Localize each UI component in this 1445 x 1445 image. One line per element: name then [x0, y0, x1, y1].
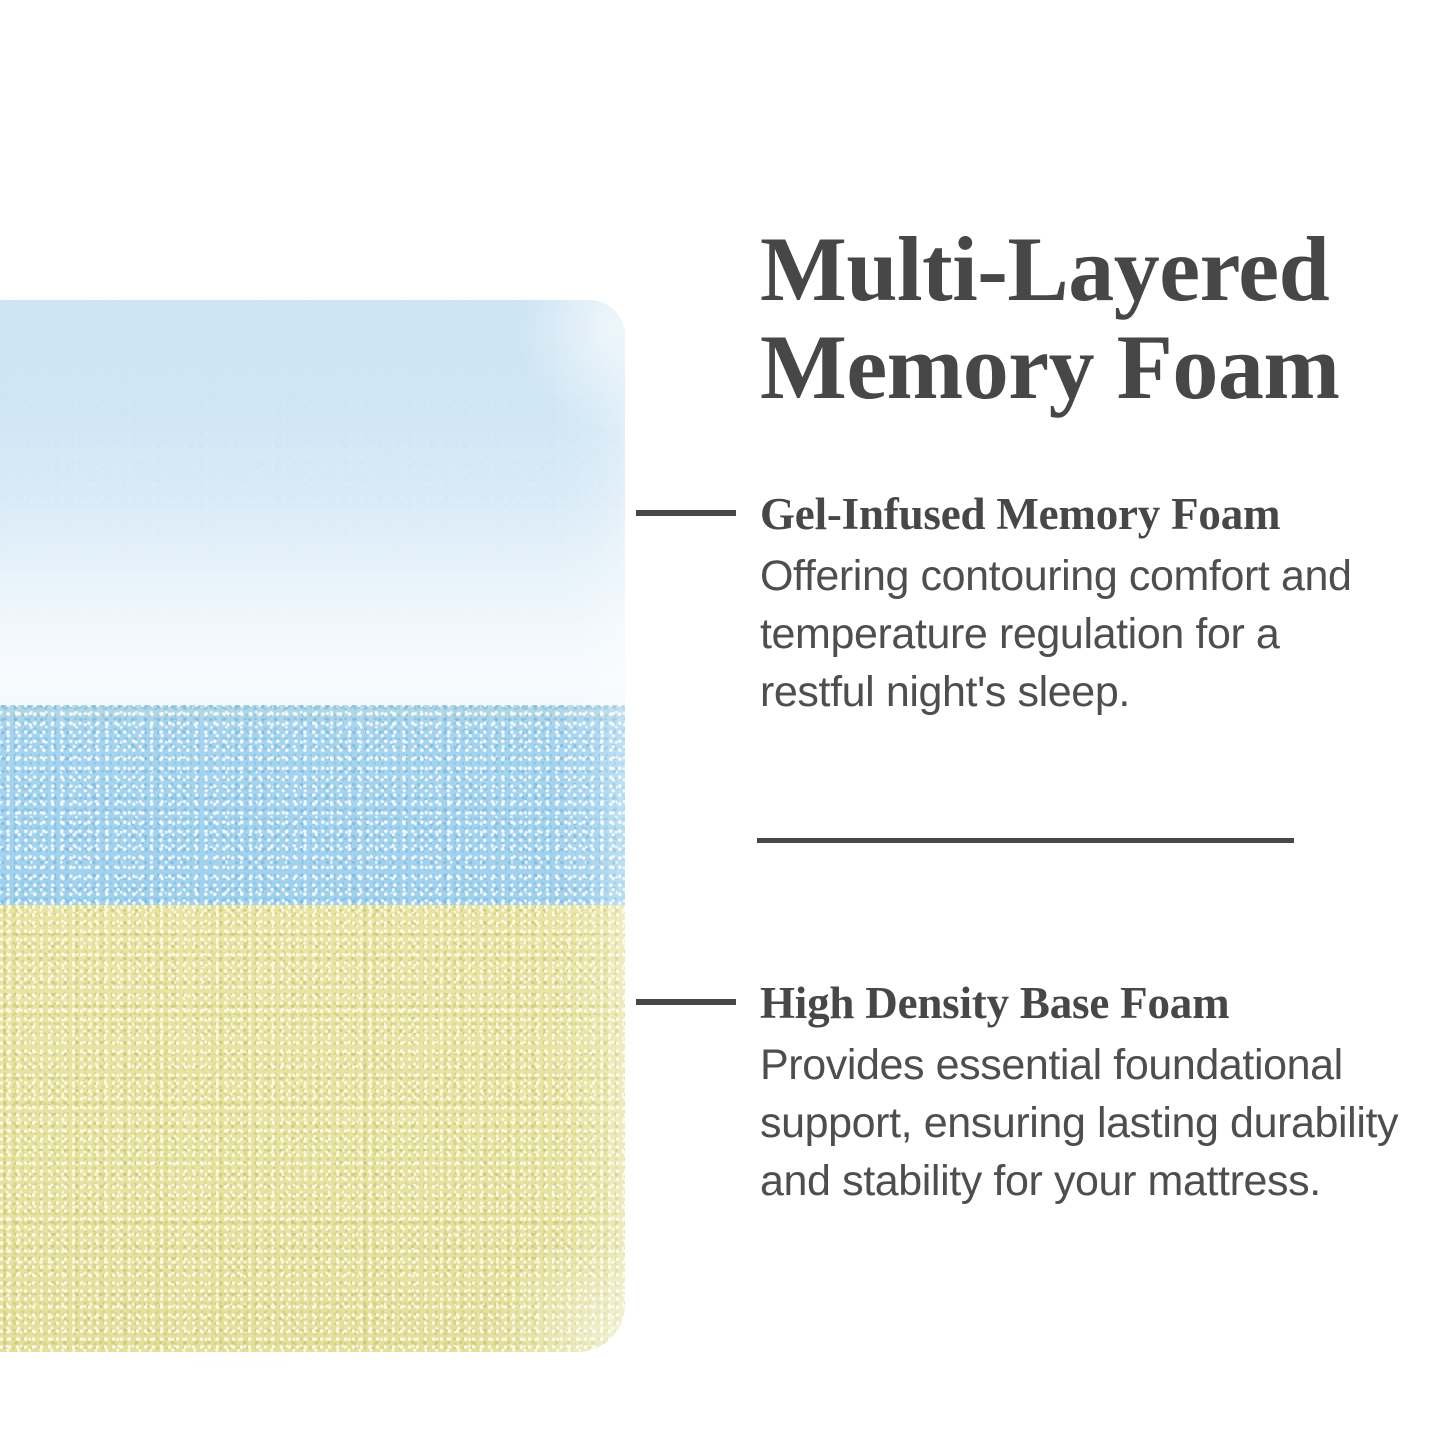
feature-description: Offering contouring comfort and temperat… — [757, 547, 1417, 721]
foam-block-illustration — [0, 300, 625, 1352]
foam-texture-speckle-surface — [0, 300, 625, 705]
content-column: Multi-Layered Memory Foam Gel-Infused Me… — [757, 0, 1417, 1445]
feature-block-high-density-base-foam: High Density Base Foam Provides essentia… — [757, 978, 1417, 1210]
feature-heading: Gel-Infused Memory Foam — [760, 489, 1280, 539]
infographic-canvas: Multi-Layered Memory Foam Gel-Infused Me… — [0, 0, 1445, 1445]
feature-leader-row: Gel-Infused Memory Foam — [757, 489, 1417, 541]
feature-leader-row: High Density Base Foam — [757, 978, 1417, 1030]
leader-line-icon — [636, 510, 736, 516]
feature-block-gel-infused-memory-foam: Gel-Infused Memory Foam Offering contour… — [757, 489, 1417, 721]
section-divider — [757, 838, 1294, 843]
leader-line-icon — [636, 999, 736, 1005]
foam-block — [0, 300, 625, 1352]
feature-heading: High Density Base Foam — [760, 978, 1229, 1028]
page-title: Multi-Layered Memory Foam — [760, 220, 1420, 416]
foam-layer-gel-surface — [0, 300, 625, 705]
feature-description: Provides essential foundational support,… — [757, 1036, 1417, 1210]
